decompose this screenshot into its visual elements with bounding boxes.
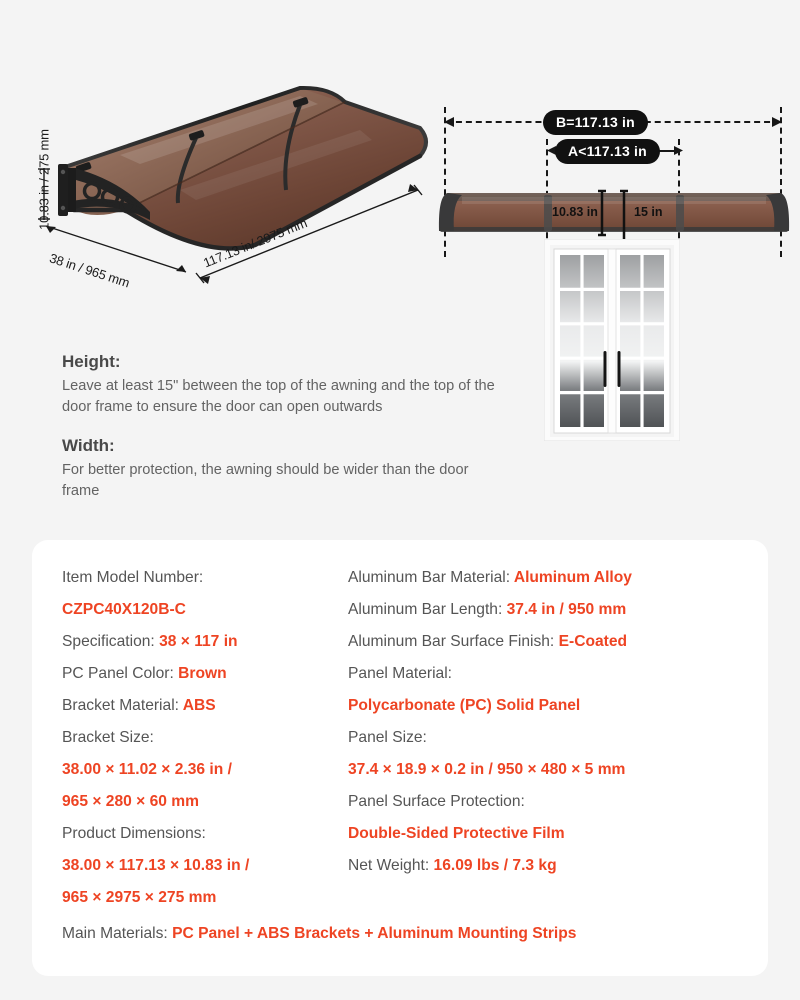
specifications-columns: Item Model Number:CZPC40X120B-CSpecifica… [32, 562, 768, 914]
spec-line: Panel Size: [348, 722, 762, 754]
spec-line: Panel Surface Protection: [348, 786, 762, 818]
spec-label: Item Model Number: [62, 569, 203, 586]
specifications-card: Item Model Number:CZPC40X120B-CSpecifica… [32, 540, 768, 976]
spec-label: Product Dimensions: [62, 825, 206, 842]
note-width-body: For better protection, the awning should… [62, 460, 504, 502]
spec-value: 965 × 2975 × 275 mm [62, 882, 334, 914]
spec-value: ABS [179, 697, 216, 714]
spec-line: Item Model Number: [62, 562, 334, 594]
spec-value: CZPC40X120B-C [62, 594, 334, 626]
spec-value: Brown [174, 665, 227, 682]
spec-line: Specification: 38 × 117 in [62, 626, 334, 658]
spec-value: 16.09 lbs / 7.3 kg [429, 857, 556, 874]
awning-height-label: 10.83 in [552, 205, 598, 219]
b-arrow-right-icon [770, 115, 786, 129]
note-width-heading: Width: [62, 436, 532, 456]
spec-line: Aluminum Bar Length: 37.4 in / 950 mm [348, 594, 762, 626]
awning-perspective-svg [0, 60, 440, 320]
spec-label: Aluminum Bar Length: [348, 601, 502, 618]
spec-label: Bracket Size: [62, 729, 154, 746]
spec-label: Net Weight: [348, 857, 429, 874]
main-materials-label: Main Materials: [62, 925, 168, 942]
installation-notes: Height: Leave at least 15" between the t… [62, 352, 532, 521]
spec-line: PC Panel Color: Brown [62, 658, 334, 690]
spec-label: PC Panel Color: [62, 665, 174, 682]
note-height-heading: Height: [62, 352, 532, 372]
spec-value: 38.00 × 11.02 × 2.36 in / [62, 754, 334, 786]
awning-height-bar [598, 187, 606, 239]
door-width-label: A<117.13 in [555, 139, 660, 164]
door-clearance-label: 15 in [634, 205, 663, 219]
spec-line: Product Dimensions: [62, 818, 334, 850]
spec-line: Net Weight: 16.09 lbs / 7.3 kg [348, 850, 762, 882]
awning-front-svg [438, 183, 790, 239]
awning-width-label: B=117.13 in [543, 110, 648, 135]
note-height-body: Leave at least 15" between the top of th… [62, 376, 504, 418]
spec-value: E-Coated [554, 633, 627, 650]
spec-line: Aluminum Bar Material: Aluminum Alloy [348, 562, 762, 594]
main-materials-value: PC Panel + ABS Brackets + Aluminum Mount… [172, 925, 576, 942]
dim-label-height: 10.83 in / 275 mm [37, 110, 52, 250]
spec-label: Specification: [62, 633, 155, 650]
spec-label: Panel Size: [348, 729, 427, 746]
spec-label: Bracket Material: [62, 697, 179, 714]
spec-value: 37.4 in / 950 mm [502, 601, 626, 618]
product-diagram-area: 10.83 in / 275 mm 38 in / 965 mm 117.13 … [0, 0, 800, 540]
spec-label: Aluminum Bar Surface Finish: [348, 633, 554, 650]
spec-value: 37.4 × 18.9 × 0.2 in / 950 × 480 × 5 mm [348, 754, 762, 786]
spec-value: Polycarbonate (PC) Solid Panel [348, 690, 762, 722]
spec-value: 965 × 280 × 60 mm [62, 786, 334, 818]
spec-line: Aluminum Bar Surface Finish: E-Coated [348, 626, 762, 658]
spec-label: Panel Surface Protection: [348, 793, 525, 810]
awning-perspective-illustration: 10.83 in / 275 mm 38 in / 965 mm 117.13 … [0, 60, 440, 320]
a-arrow-right-icon [672, 144, 686, 157]
spec-value: 38.00 × 117.13 × 10.83 in / [62, 850, 334, 882]
b-arrow-left-icon [440, 115, 456, 129]
spec-value: 38 × 117 in [155, 633, 238, 650]
spec-line: Bracket Size: [62, 722, 334, 754]
spec-value: Double-Sided Protective Film [348, 818, 762, 850]
specifications-column-right: Aluminum Bar Material: Aluminum AlloyAlu… [340, 562, 768, 914]
spec-value: Aluminum Alloy [510, 569, 632, 586]
spec-line: Panel Material: [348, 658, 762, 690]
spec-line: Bracket Material: ABS [62, 690, 334, 722]
main-materials-row: Main Materials: PC Panel + ABS Brackets … [62, 920, 576, 948]
specifications-column-left: Item Model Number:CZPC40X120B-CSpecifica… [32, 562, 340, 914]
spec-label: Panel Material: [348, 665, 452, 682]
spec-label: Aluminum Bar Material: [348, 569, 510, 586]
french-door-illustration [544, 239, 680, 441]
